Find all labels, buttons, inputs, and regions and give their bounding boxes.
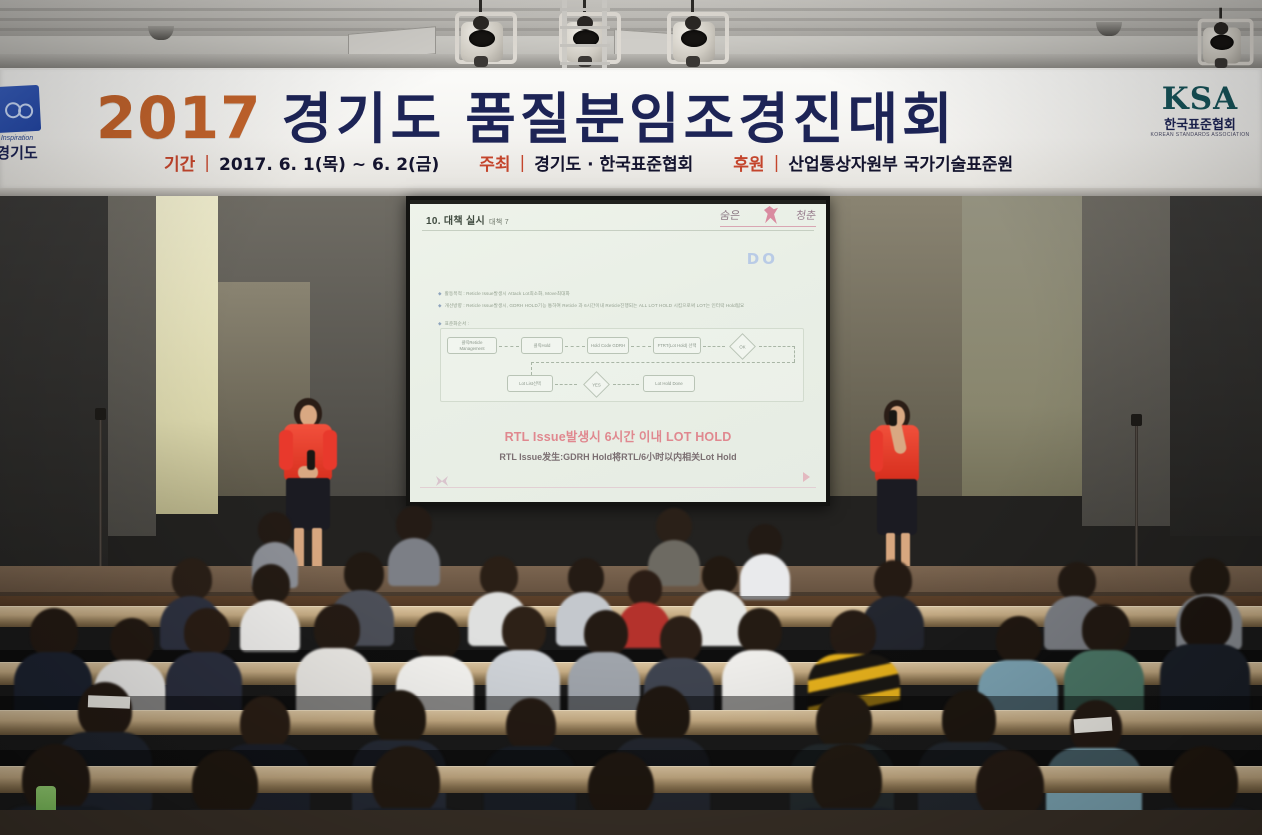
separator-3: | [774,153,780,173]
presenter-left-face [300,405,317,426]
illuminated-wall-panel-right [962,196,1082,496]
banner-title: 2017 경기도 품질분임조경진대회 [96,74,957,154]
audience-head [660,616,702,662]
stage-wall-column [108,196,156,536]
audience-head [1082,604,1130,654]
slide-bullet-3: ◆표준화순서 : [438,320,469,327]
slide-title: 10. 대책 실시대책 7 [426,212,509,227]
audience-head [480,556,518,596]
audience-head [812,744,882,816]
flow-node-5: Lot List선택 [507,375,553,392]
host-value: 경기도 · 한국표준협회 [534,150,693,175]
stage-spotlight [1195,13,1249,69]
screen-top-bar [410,200,826,204]
audience-head [830,610,876,658]
audience-head [414,612,460,660]
gyeonggi-emblem-icon [0,85,41,133]
team-logo: 숨은 청춘 [720,205,816,227]
sponsor-value: 산업통상자원부 국가기술표준원 [788,150,1013,175]
flow-node-2: 클릭Hold [521,337,563,354]
audience-head [314,604,360,654]
audience-head [1190,558,1230,598]
ksa-logo: KSA 한국표준협회 KOREAN STANDARDS ASSOCIATION [1148,84,1252,138]
presenter-left-arm [323,430,337,470]
audience-head [702,556,738,594]
slide-bullet-1: ◆활동목적 : Reticle Issue발생시 Attack Lot최소화, … [438,290,570,297]
illuminated-wall-panel [156,196,218,514]
flow-node-1: 클릭Reticle Management [447,337,497,354]
audience-head [184,608,230,656]
slide-flowchart: 클릭Reticle Management 클릭Hold Hold Code GD… [440,328,804,402]
presenter-left-arm [279,430,293,470]
banner-subtitle: 기간 | 2017. 6. 1(목) ~ 6. 2(금) 주최 | 경기도 · … [164,150,1013,175]
gyeonggi-logo-korean: 경기도 [0,142,60,163]
audience-head [344,552,384,594]
audience-head [1180,596,1232,650]
audience-head [78,682,132,738]
separator-2: | [520,153,526,173]
slide-footer-rule [420,487,816,488]
flow-node-4: FTRT(Lot Hold) 선택 [653,337,701,354]
audience-head [22,744,90,814]
audience-member [240,564,300,644]
audience-head [258,512,292,546]
audience-head [240,696,290,750]
slide-emphasis-korean: RTL Issue발생시 6시간 이내 LOT HOLD [410,426,826,445]
sponsor-label: 후원 [733,150,764,175]
flow-node-3: Hold Code GDRH [587,337,629,354]
paper-document [88,695,130,708]
flow-decision-yes: YES [583,371,610,398]
ceiling [0,0,1262,72]
play-triangle-icon [803,472,810,482]
presentation-hall-photo: Inspiration 경기도 2017 경기도 품질분임조경진대회 기간 | … [0,0,1262,835]
slide-title-suffix: 대책 7 [489,219,509,226]
audience-head [374,690,426,746]
slide-watermark-do: DO [747,250,778,268]
audience-head [172,558,212,600]
audience-head [996,616,1042,664]
audience-head [1058,562,1096,600]
banner-year: 2017 [96,84,261,152]
audience-head [636,686,690,744]
paper-document [1074,717,1113,734]
audience-head [506,698,556,752]
ksa-english-name: KOREAN STANDARDS ASSOCIATION [1148,133,1252,138]
microphone-icon [889,410,897,426]
period-value: 2017. 6. 1(목) ~ 6. 2(금) [219,150,439,175]
microphone-icon [95,408,106,420]
presenter-right-arm [870,430,883,472]
banner-title-part2: 품질분임조경진대회 [465,74,956,154]
audience-head [110,618,154,664]
ksa-korean-name: 한국표준협회 [1148,118,1252,131]
gyeonggi-logo-english: Inspiration [0,135,60,142]
separator-1: | [204,153,210,173]
audience-head [396,506,432,542]
microphone-icon [307,450,315,470]
audience-head [656,508,692,544]
audience-body [240,600,300,652]
audience-head [748,524,782,558]
audience-head [30,608,78,658]
projection-screen: 10. 대책 실시대책 7 숨은 청춘 DO ◆활동목적 : Reticle I… [406,196,830,506]
audience-head [628,570,662,606]
ksa-acronym: KSA [1148,84,1252,115]
team-logo-figure-icon [764,206,778,224]
banner-title-part1: 경기도 [281,74,445,154]
presentation-slide: 10. 대책 실시대책 7 숨은 청춘 DO ◆활동목적 : Reticle I… [410,200,826,502]
audience-head [252,564,290,604]
audience-head [372,746,440,816]
audience-head [738,608,782,654]
floor-shadow [0,810,1262,835]
audience-member [388,506,440,580]
audience-head [942,690,996,748]
slide-bullet-2: ◆개선방향 : Reticle Issue발생시, GDRH HOLD기능 통하… [438,302,744,309]
slide-emphasis-chinese: RTL Issue发生:GDRH Hold将RTL/6小时以内相关Lot Hol… [410,450,826,463]
team-logo-underline [720,226,816,227]
host-label: 주최 [479,150,510,175]
slide-title-rule [422,230,814,231]
team-logo-left-text: 숨은 [719,207,741,223]
audience-head [568,558,604,596]
audience-head [1170,746,1238,816]
audience-area [0,500,1262,835]
flow-decision-ok: OK [729,333,756,360]
audience-head [816,692,872,750]
audience-head [502,606,546,654]
stage-wall-far-right [1170,196,1262,536]
microphone-icon [1131,414,1142,426]
audience-head [192,750,258,818]
stage-spotlight [664,6,724,68]
period-label: 기간 [164,150,195,175]
audience-head [874,560,912,600]
butterfly-icon [436,476,448,486]
audience-body [388,538,440,586]
team-logo-right-text: 청춘 [795,207,817,223]
stage-spotlight [452,6,512,68]
audience-head [584,610,628,656]
gyeonggi-province-logo: Inspiration 경기도 [0,72,60,163]
flow-node-6: Lot Hold Done [643,375,695,392]
